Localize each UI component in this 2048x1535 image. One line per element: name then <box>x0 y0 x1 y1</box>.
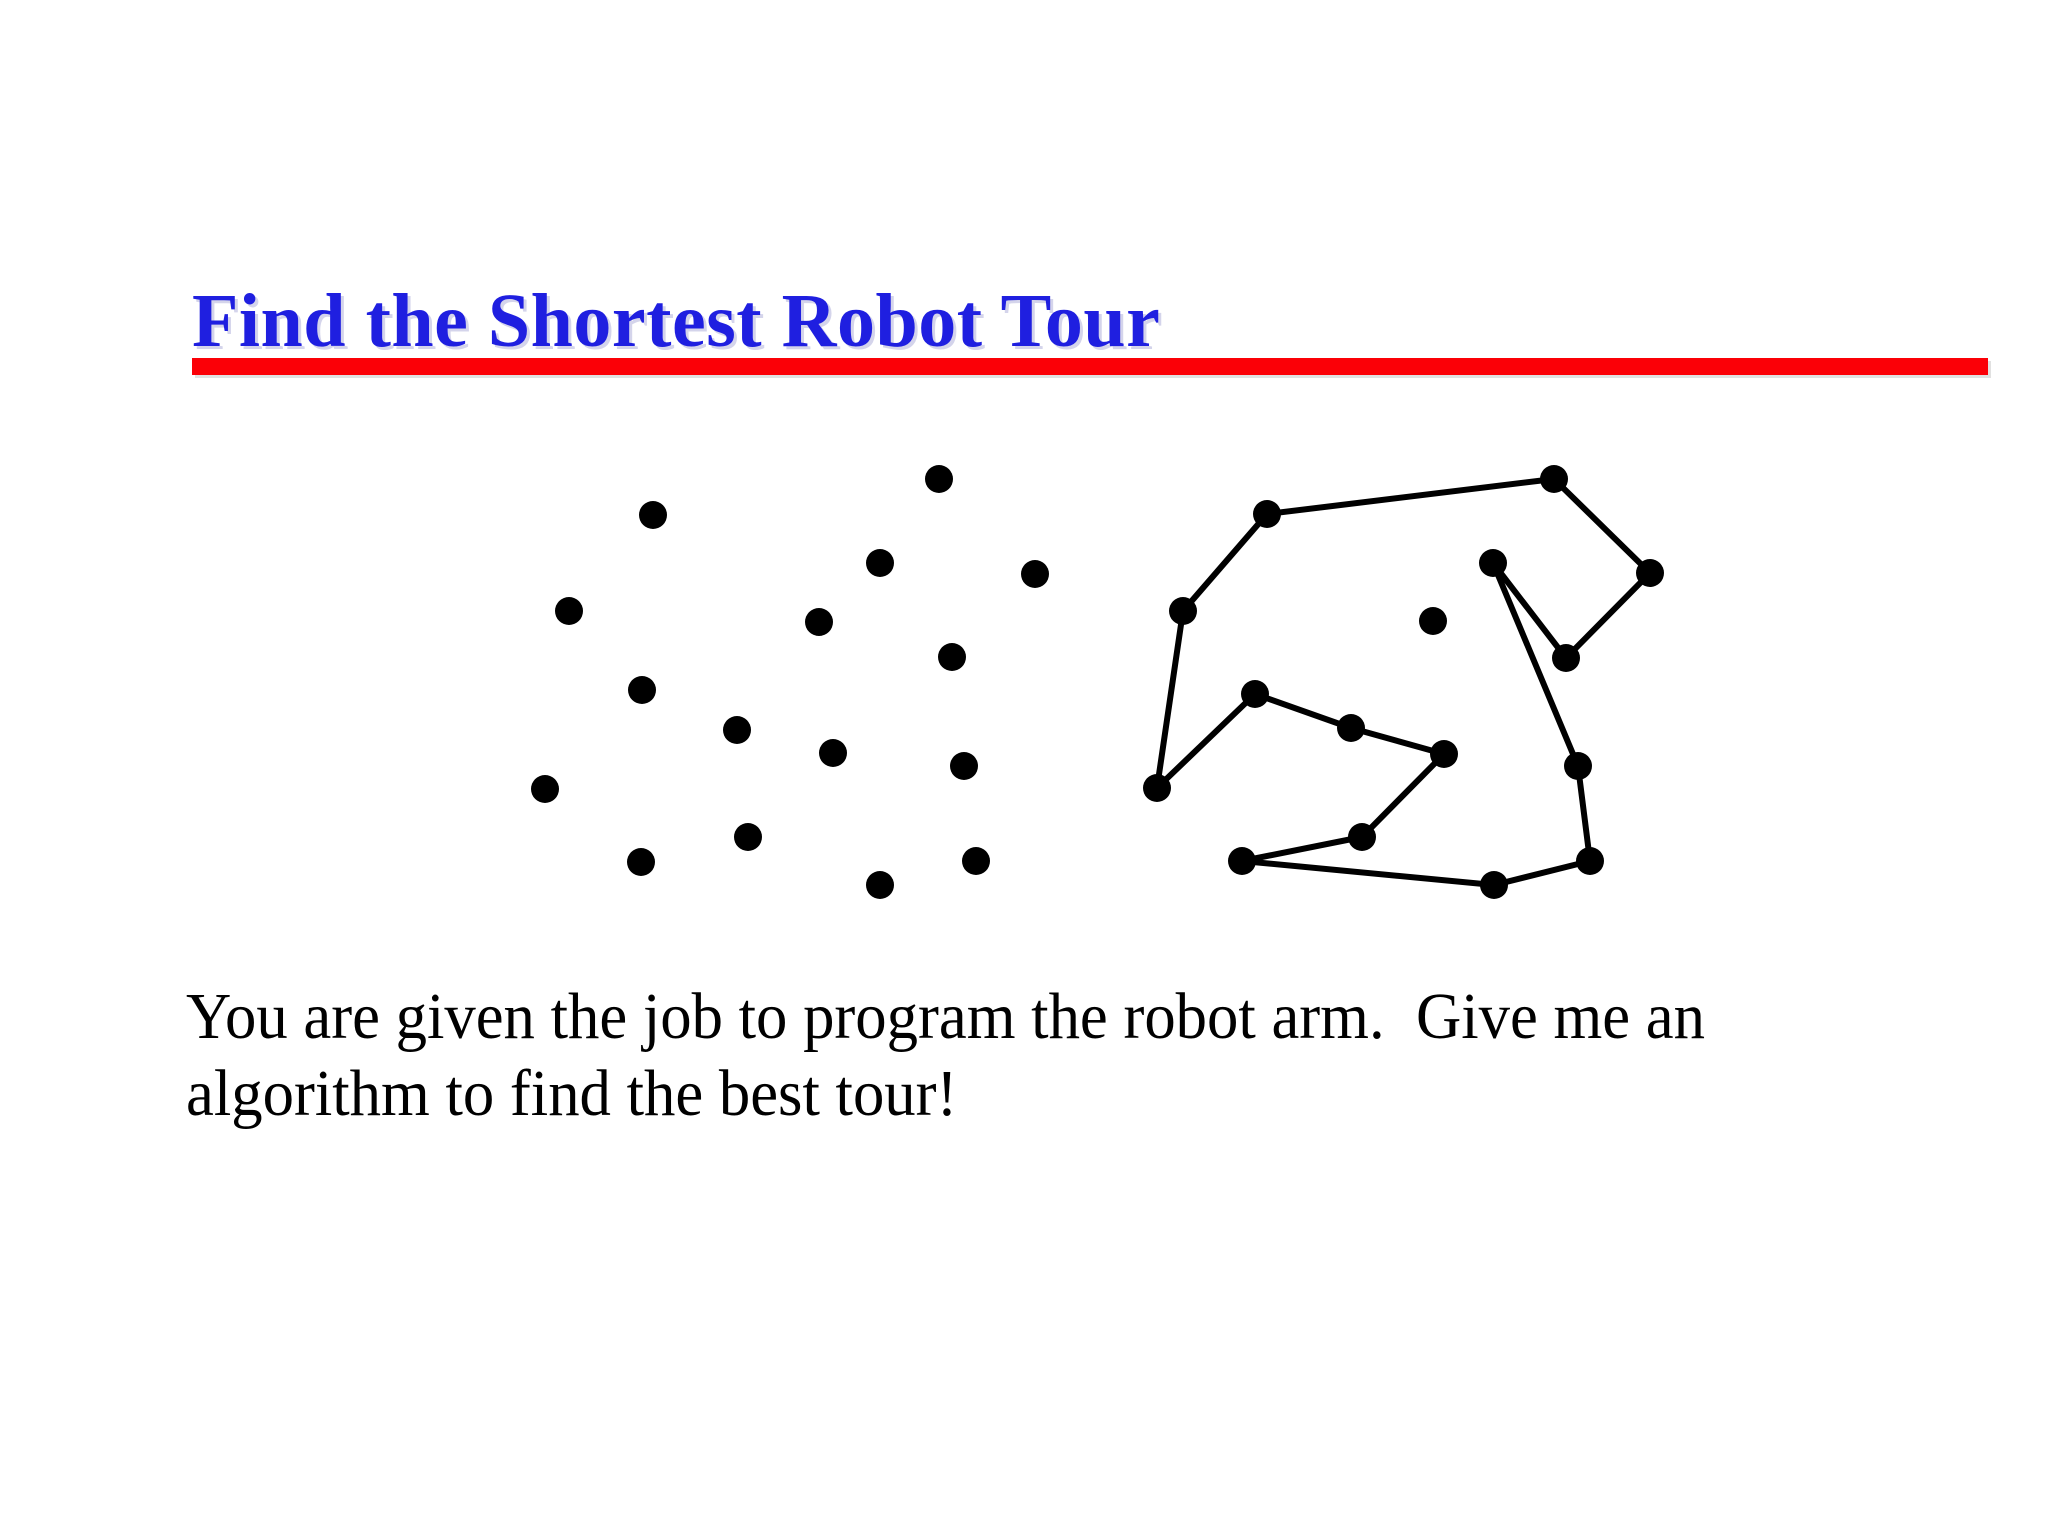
body-line-1: You are given the job to program the rob… <box>186 978 1906 1055</box>
tour-edge <box>1351 728 1444 754</box>
tour-point <box>1479 549 1507 577</box>
tour-point <box>1576 847 1604 875</box>
scatter-point <box>627 848 655 876</box>
tour-points-group <box>1143 465 1664 899</box>
scatter-point <box>819 739 847 767</box>
scatter-point <box>1021 560 1049 588</box>
tour-point <box>1419 607 1447 635</box>
tour-edge <box>1183 514 1267 611</box>
tour-edge <box>1267 479 1554 514</box>
tour-point <box>1636 559 1664 587</box>
tour-edge <box>1494 861 1590 885</box>
tour-point <box>1241 680 1269 708</box>
tour-point <box>1337 714 1365 742</box>
tour-edge <box>1255 694 1351 728</box>
tour-point <box>1169 597 1197 625</box>
tour-point <box>1540 465 1568 493</box>
scatter-point <box>531 775 559 803</box>
tour-point <box>1564 752 1592 780</box>
page-title: Find the Shortest Robot Tour <box>192 283 1992 359</box>
tour-edges-group <box>1157 479 1650 885</box>
tour-edge <box>1242 837 1362 861</box>
scatter-point <box>555 597 583 625</box>
robot-tour-figure <box>0 0 2048 1000</box>
scatter-point <box>866 549 894 577</box>
tour-edge <box>1493 563 1578 766</box>
slide: Find the Shortest Robot Tour You are giv… <box>0 0 2048 1535</box>
scatter-point <box>723 716 751 744</box>
tour-edge <box>1493 563 1566 658</box>
tour-edge <box>1578 766 1590 861</box>
scatter-point <box>962 847 990 875</box>
scatter-point <box>950 752 978 780</box>
tour-edge <box>1554 479 1650 573</box>
scatter-point <box>734 823 762 851</box>
tour-point <box>1253 500 1281 528</box>
scatter-point <box>866 871 894 899</box>
tour-point <box>1348 823 1376 851</box>
scatter-point <box>938 643 966 671</box>
title-underline-rule <box>192 358 1988 375</box>
tour-point <box>1552 644 1580 672</box>
tour-edge <box>1157 694 1255 788</box>
scatter-point <box>805 608 833 636</box>
scatter-point <box>628 676 656 704</box>
scatter-point <box>925 465 953 493</box>
tour-edge <box>1362 754 1444 837</box>
tour-edge <box>1242 861 1494 885</box>
tour-edge <box>1566 573 1650 658</box>
tour-edge <box>1157 611 1183 788</box>
tour-point <box>1430 740 1458 768</box>
tour-point <box>1480 871 1508 899</box>
scatter-points-group <box>531 465 1049 899</box>
scatter-point <box>639 501 667 529</box>
body-line-2: algorithm to find the best tour! <box>186 1055 1906 1132</box>
tour-point <box>1228 847 1256 875</box>
robot-tour-svg <box>0 0 2048 1000</box>
tour-point <box>1143 774 1171 802</box>
slide-body-text: You are given the job to program the rob… <box>186 978 1906 1132</box>
